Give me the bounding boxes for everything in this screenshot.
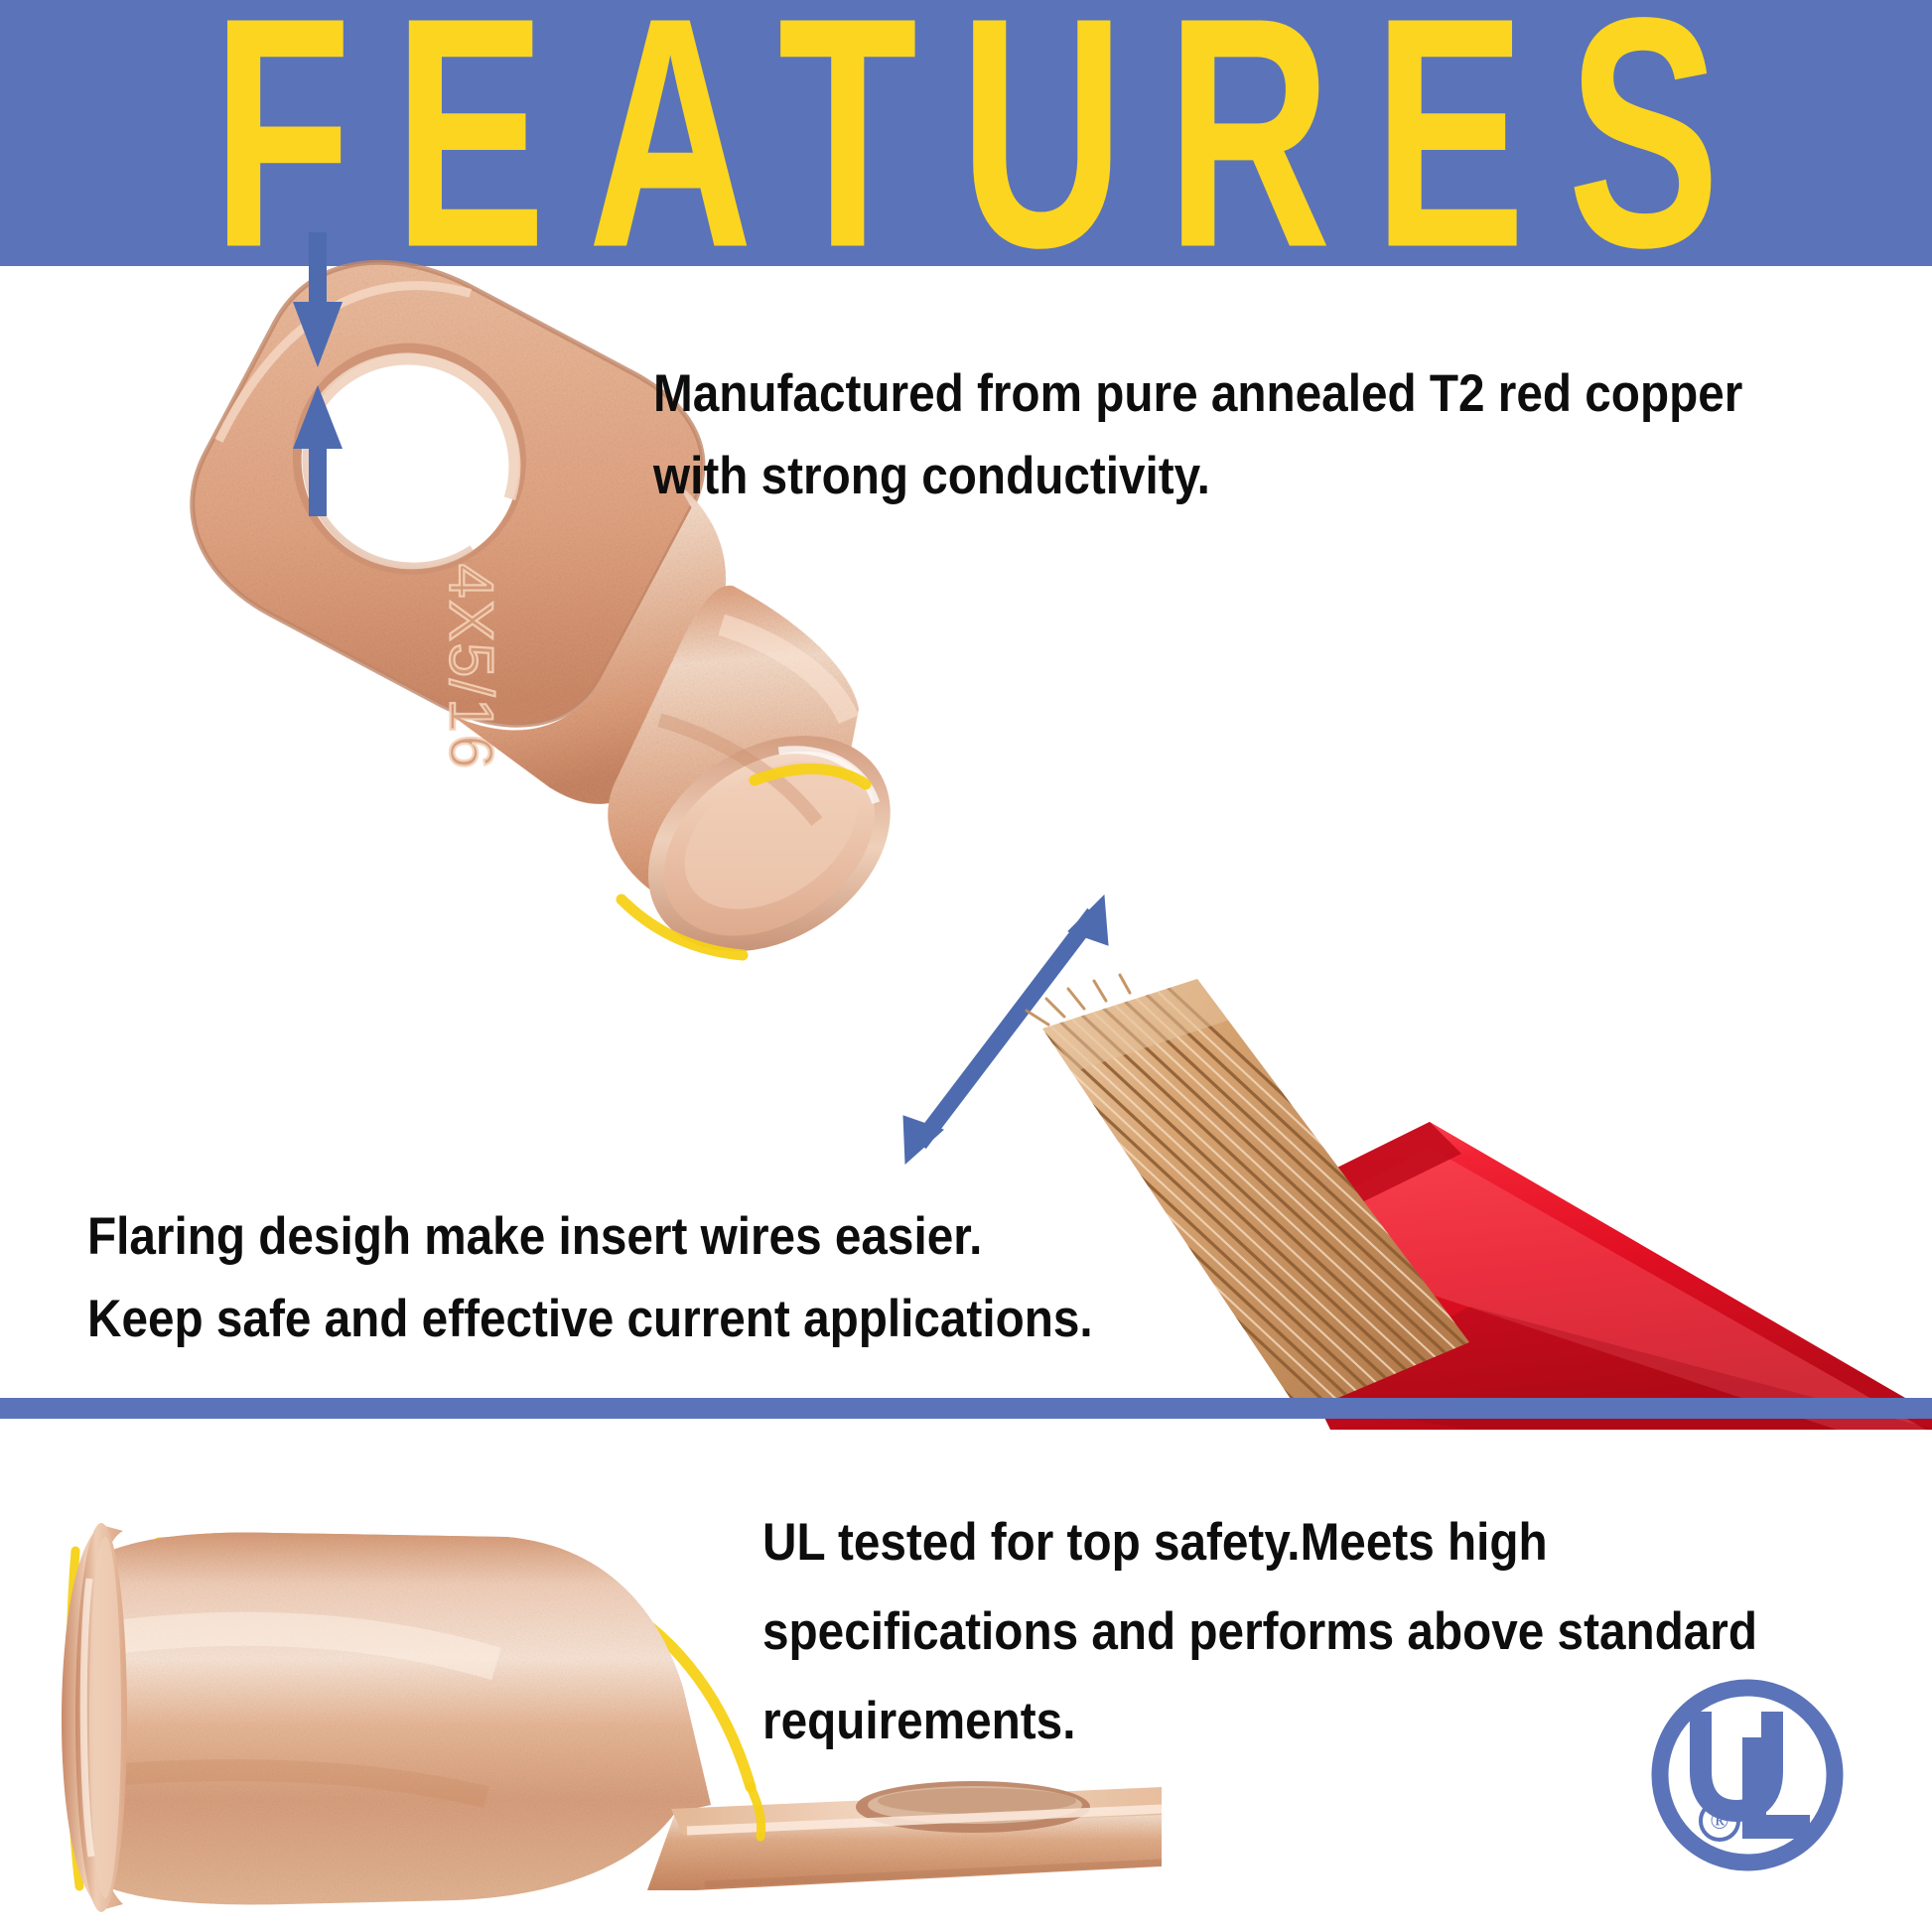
feature-infographic-page: FEATURES	[0, 0, 1932, 1932]
feature-2-line-1: Flaring desigh make insert wires easier.	[87, 1195, 1093, 1278]
feature-2-line-2: Keep safe and effective current applicat…	[87, 1278, 1093, 1360]
feature-1-line-1: Manufactured from pure annealed T2 red c…	[653, 352, 1742, 435]
arrow-up-icon	[293, 385, 343, 516]
hole-diameter-arrows	[253, 228, 392, 516]
arrow-down-icon	[293, 232, 343, 367]
feature-text-block-1: Manufactured from pure annealed T2 red c…	[653, 352, 1742, 517]
feature-1-line-2: with strong conductivity.	[653, 435, 1742, 517]
feature-text-block-2: Flaring desigh make insert wires easier.…	[87, 1195, 1093, 1360]
registered-symbol-glyph: ®	[1711, 1808, 1729, 1835]
ul-certification-logo: ®	[1643, 1676, 1852, 1879]
section-divider	[0, 1398, 1932, 1419]
red-battery-cable-image	[1003, 973, 1932, 1430]
copper-lug-bottom-image	[40, 1489, 1162, 1932]
